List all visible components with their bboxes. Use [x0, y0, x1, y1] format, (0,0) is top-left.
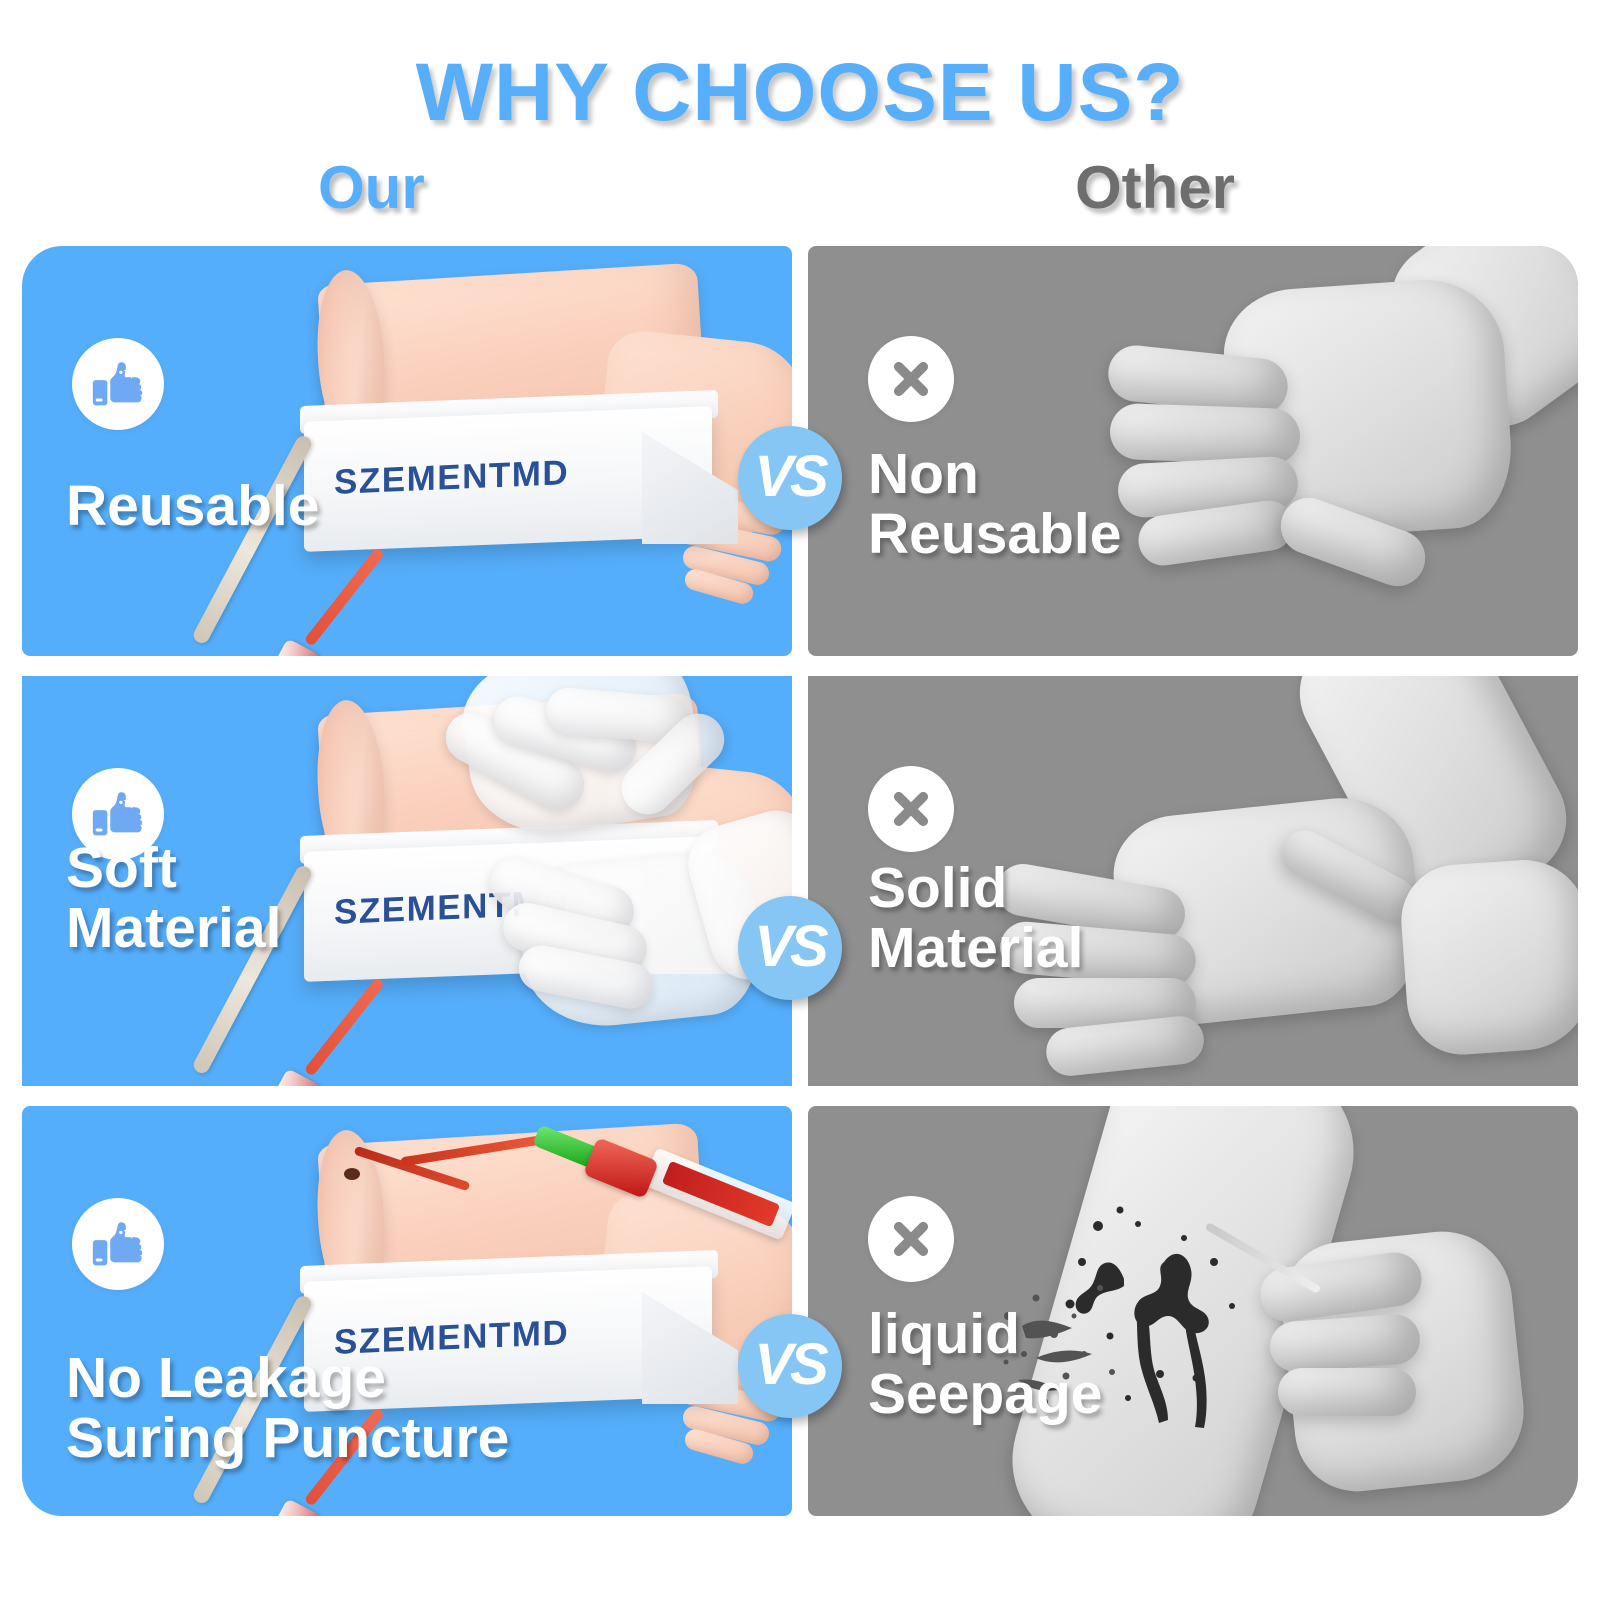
- vs-badge: VS: [738, 426, 842, 530]
- x-circle-icon: [868, 766, 954, 852]
- our-feature-label: Soft Material: [66, 838, 281, 959]
- comparison-row-1: SZEMENTMD Reusable VS: [0, 246, 1600, 656]
- catheter-red-line: [304, 547, 385, 647]
- our-panel-soft-material: SZEMENTMD: [22, 676, 792, 1086]
- catheter-tube: [191, 433, 314, 645]
- x-circle-icon: [868, 336, 954, 422]
- vs-badge-text: VS: [754, 918, 825, 976]
- other-panel-non-reusable: Non Reusable: [808, 246, 1578, 656]
- our-feature-label: No Leakage Suring Puncture: [66, 1348, 509, 1469]
- other-panel-solid-material: Solid Material: [808, 676, 1578, 1086]
- vs-badge-text: VS: [754, 1336, 825, 1394]
- page-title: WHY CHOOSE US?: [0, 52, 1600, 134]
- thumbs-up-sparkle-icon: [72, 1198, 164, 1290]
- x-circle-icon: [868, 1196, 954, 1282]
- other-feature-label: Solid Material: [868, 858, 1083, 979]
- other-feature-label: Non Reusable: [868, 444, 1121, 565]
- catheter-red-line: [304, 977, 385, 1077]
- thumbs-up-sparkle-icon: [72, 338, 164, 430]
- our-panel-no-leakage: SZEMENTMD: [22, 1106, 792, 1516]
- our-panel-reusable: SZEMENTMD Reusable: [22, 246, 792, 656]
- glove-fist: [1398, 856, 1578, 1059]
- column-heading-other: Other: [1075, 158, 1235, 218]
- product-photo-reusable: SZEMENTMD: [22, 246, 792, 656]
- vs-badge-text: VS: [754, 448, 825, 506]
- vs-badge: VS: [738, 1314, 842, 1418]
- vs-badge: VS: [738, 896, 842, 1000]
- other-panel-liquid-seepage: liquid Seepage: [808, 1106, 1578, 1516]
- other-feature-label: liquid Seepage: [868, 1304, 1102, 1425]
- our-feature-label: Reusable: [66, 476, 319, 536]
- header: WHY CHOOSE US? Our Other: [0, 0, 1600, 236]
- comparison-row-2: SZEMENTMD: [0, 676, 1600, 1086]
- comparison-row-3: SZEMENTMD: [0, 1106, 1600, 1516]
- puncture-site: [344, 1168, 360, 1180]
- column-heading-our: Our: [318, 158, 425, 218]
- comparison-grid: SZEMENTMD Reusable VS: [0, 236, 1600, 1526]
